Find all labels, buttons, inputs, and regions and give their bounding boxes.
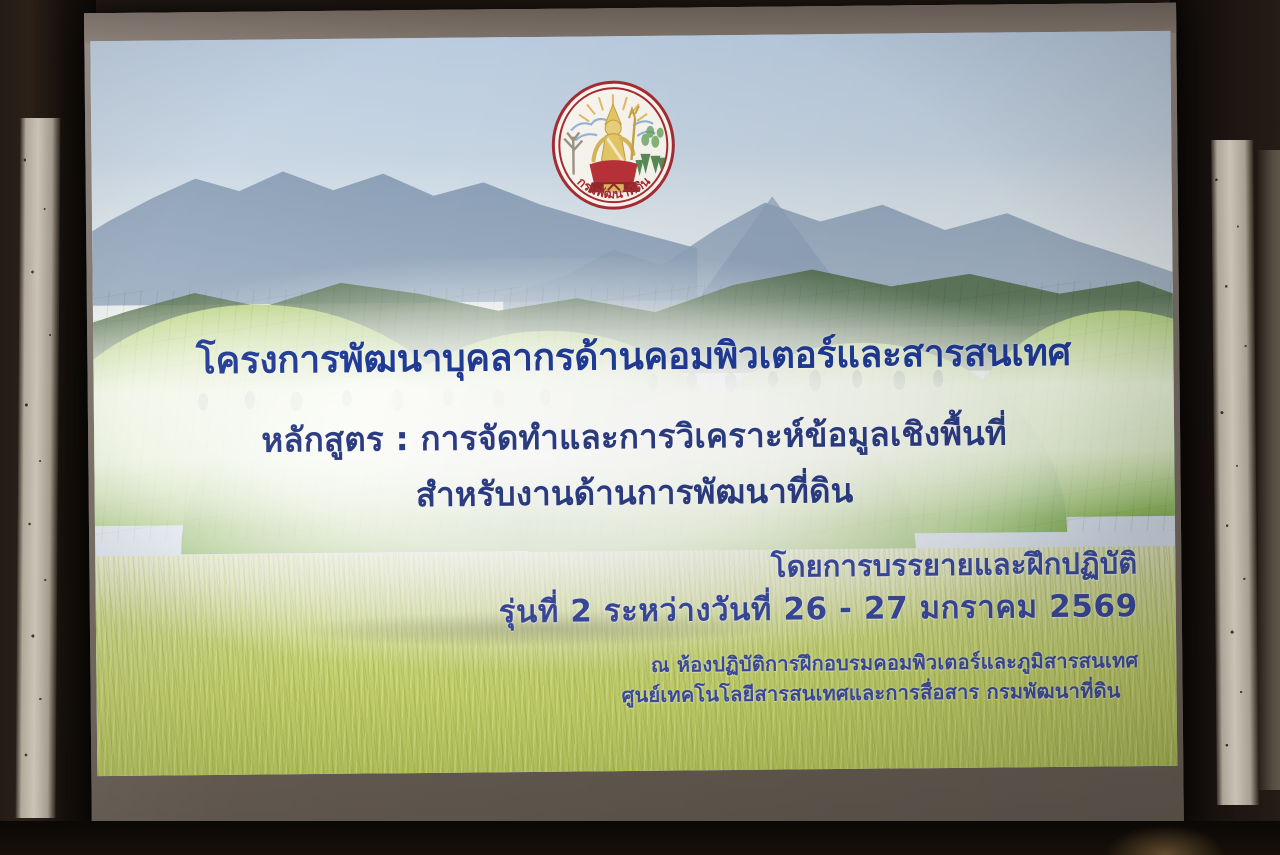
slide-text-block: โครงการพัฒนาบุคลากรด้านคอมพิวเตอร์และสาร… <box>90 31 1177 776</box>
room-scene: กรมพัฒนาที่ดิน โครงการพัฒนาบุคลากรด้านคอ… <box>0 0 1280 855</box>
floor-band <box>0 821 1280 855</box>
slide-venue-line-1: ณ ห้องปฏิบัติการฝึกอบรมคอมพิวเตอร์และภูม… <box>96 649 1176 682</box>
slide-course-line-1: หลักสูตร : การจัดทำและการวิเคราะห์ข้อมูล… <box>94 413 1174 461</box>
wall-pillar-left <box>16 118 61 818</box>
slide-session-line: รุ่นที่ 2 ระหว่างวันที่ 26 - 27 มกราคม 2… <box>96 589 1176 635</box>
slide-venue-line-2: ศูนย์เทคโนโลยีสารสนเทศและการสื่อสาร กรมพ… <box>97 679 1177 712</box>
pillar-texture-left <box>16 118 61 818</box>
wall-pillar-right <box>1211 140 1259 805</box>
presentation-slide: กรมพัฒนาที่ดิน โครงการพัฒนาบุคลากรด้านคอ… <box>90 31 1177 776</box>
projection-screen: กรมพัฒนาที่ดิน โครงการพัฒนาบุคลากรด้านคอ… <box>84 3 1184 843</box>
floor-light-glow <box>1105 825 1225 855</box>
wall-pillar-right-outer <box>1258 150 1280 790</box>
slide-course-line-2: สำหรับงานด้านการพัฒนาที่ดิน <box>95 469 1175 517</box>
slide-method-line: โดยการบรรยายและฝึกปฏิบัติ <box>95 547 1175 591</box>
slide-title-main: โครงการพัฒนาบุคลากรด้านคอมพิวเตอร์และสาร… <box>93 331 1173 384</box>
pillar-texture-right <box>1211 140 1259 805</box>
